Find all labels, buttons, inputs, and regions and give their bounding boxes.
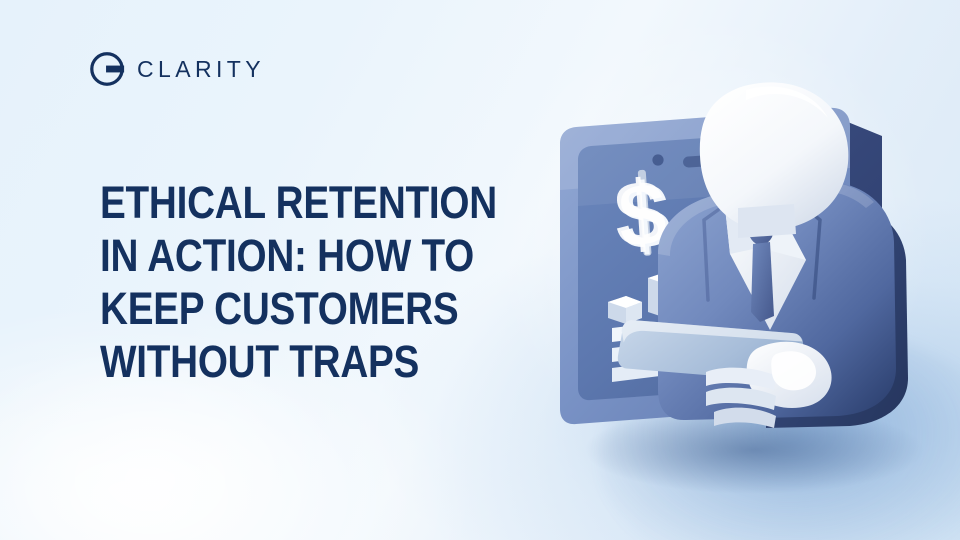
brand-logo[interactable]: CLARITY	[88, 50, 265, 88]
person-tie	[751, 242, 774, 322]
clarity-circle-mark-icon	[88, 50, 126, 88]
headline-line-3: KEEP CUSTOMERS	[100, 282, 470, 335]
person-neck	[738, 204, 796, 238]
headline-line-4: WITHOUT TRAPS	[100, 335, 470, 388]
headline-line-2: IN ACTION: HOW TO	[100, 229, 470, 282]
businessman-with-tablet-3d-illustration: $ $	[508, 48, 960, 500]
headline-line-1: ETHICAL RETENTION	[100, 176, 470, 229]
brand-name-label: CLARITY	[137, 58, 265, 81]
banner-canvas: CLARITY ETHICAL RETENTION IN ACTION: HOW…	[0, 0, 960, 540]
page-title: ETHICAL RETENTION IN ACTION: HOW TO KEEP…	[100, 176, 530, 388]
